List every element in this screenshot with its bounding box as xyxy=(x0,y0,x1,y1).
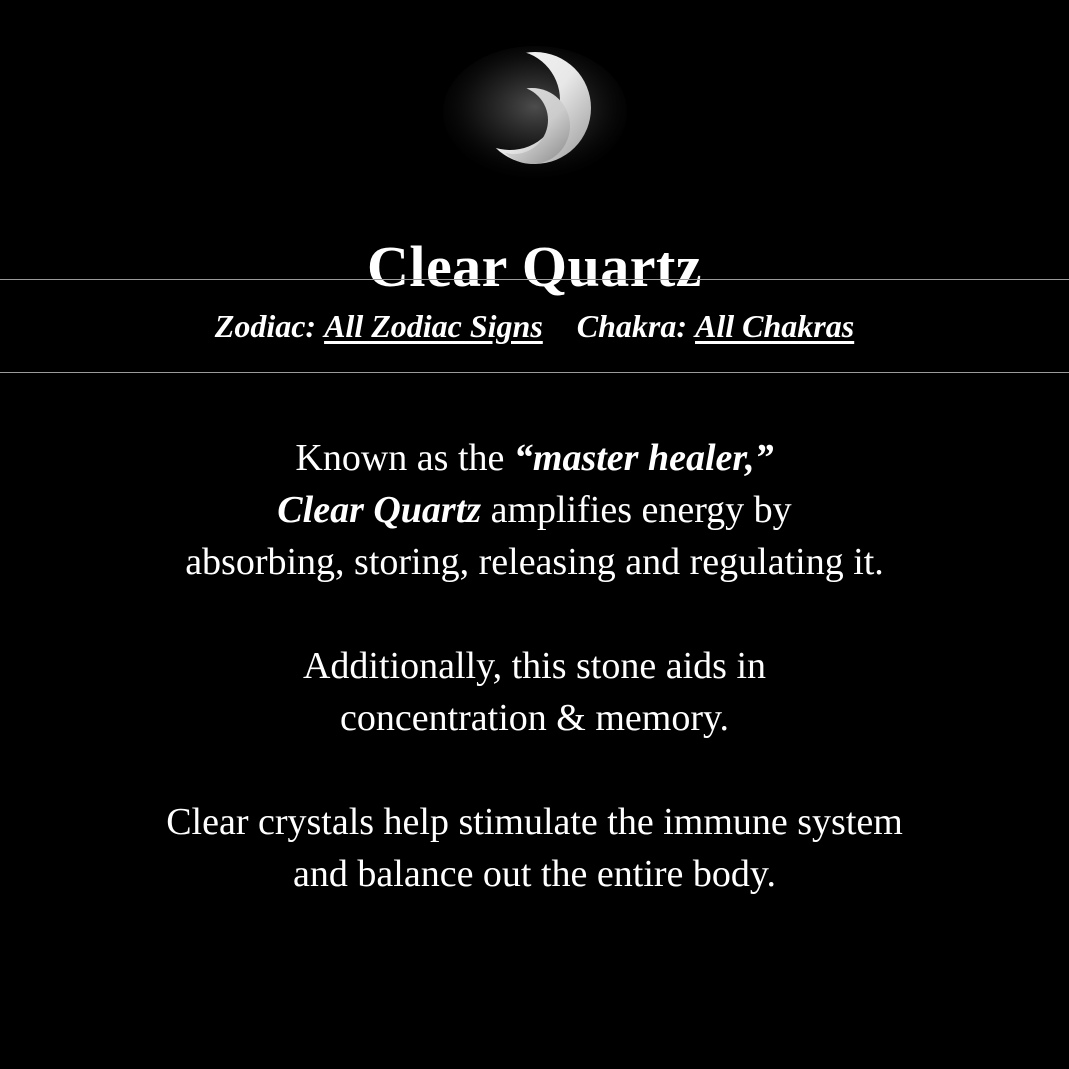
zodiac-value: All Zodiac Signs xyxy=(324,308,543,344)
p3-line2: and balance out the entire body. xyxy=(293,853,776,895)
p2-line1: Additionally, this stone aids in xyxy=(303,645,766,687)
chakra-meta: Chakra: All Chakras xyxy=(577,310,854,342)
paragraph-3: Clear crystals help stimulate the immune… xyxy=(0,796,1069,900)
divider-bottom xyxy=(0,372,1069,373)
p1-line1-pre: Known as the xyxy=(295,437,513,479)
double-crescent-moon-logo xyxy=(440,44,630,184)
meta-row: Zodiac: All Zodiac Signs Chakra: All Cha… xyxy=(0,279,1069,372)
p3-line1: Clear crystals help stimulate the immune… xyxy=(166,801,903,843)
logo-container xyxy=(0,44,1069,184)
zodiac-label: Zodiac: xyxy=(215,308,316,344)
paragraph-1: Known as the “master healer,” Clear Quar… xyxy=(0,432,1069,588)
p1-line2-name: Clear Quartz xyxy=(277,489,481,531)
chakra-value: All Chakras xyxy=(695,308,854,344)
p1-line2-post: amplifies energy by xyxy=(481,489,792,531)
chakra-label: Chakra: xyxy=(577,308,687,344)
paragraph-2: Additionally, this stone aids in concent… xyxy=(0,640,1069,744)
body-text: Known as the “master healer,” Clear Quar… xyxy=(0,432,1069,900)
p1-line1-quote: “master healer,” xyxy=(514,437,774,479)
crystal-info-card: Clear Quartz Zodiac: All Zodiac Signs Ch… xyxy=(0,0,1069,1069)
zodiac-meta: Zodiac: All Zodiac Signs xyxy=(215,310,543,342)
p1-line3: absorbing, storing, releasing and regula… xyxy=(185,541,884,583)
p2-line2: concentration & memory. xyxy=(340,697,729,739)
